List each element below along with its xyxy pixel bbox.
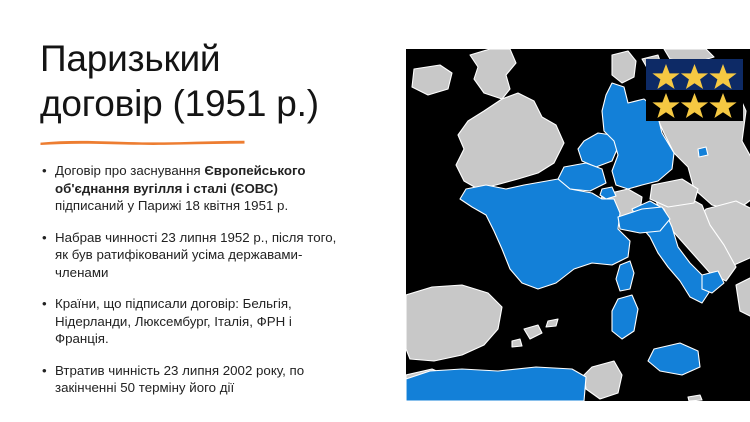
- bullet-segment-plain: підписаний у Парижі 18 квітня 1951 р.: [55, 198, 288, 213]
- list-item: • Країни, що підписали договір: Бельгія,…: [38, 295, 348, 348]
- bullet-marker: •: [42, 295, 47, 313]
- title-accent-rule: [40, 138, 245, 146]
- slide-canvas: Паризький договір (1951 р.) • Договір пр…: [0, 0, 750, 422]
- bullet-marker: •: [42, 229, 47, 247]
- list-item: • Втратив чинність 23 липня 2002 року, п…: [38, 362, 348, 397]
- title-block: Паризький договір (1951 р.): [40, 36, 340, 126]
- bullet-text-1: Договір про заснування Європейського об'…: [55, 163, 305, 213]
- bullet-text-4: Втратив чинність 23 липня 2002 року, по …: [55, 363, 304, 396]
- list-item: • Договір про заснування Європейського о…: [38, 162, 348, 215]
- bullet-marker: •: [42, 162, 47, 180]
- bullet-segment-plain: Договір про заснування: [55, 163, 204, 178]
- page-title: Паризький договір (1951 р.): [40, 36, 340, 126]
- list-item: • Набрав чинності 23 липня 1952 р., післ…: [38, 229, 348, 282]
- ecsc-six-stars-emblem: [646, 59, 743, 121]
- bullet-text-2: Набрав чинності 23 липня 1952 р., після …: [55, 230, 336, 280]
- europe-map: [406, 49, 750, 401]
- bullet-text-3: Країни, що підписали договір: Бельгія, Н…: [55, 296, 292, 346]
- bullet-list: • Договір про заснування Європейського о…: [38, 162, 348, 397]
- bullet-marker: •: [42, 362, 47, 380]
